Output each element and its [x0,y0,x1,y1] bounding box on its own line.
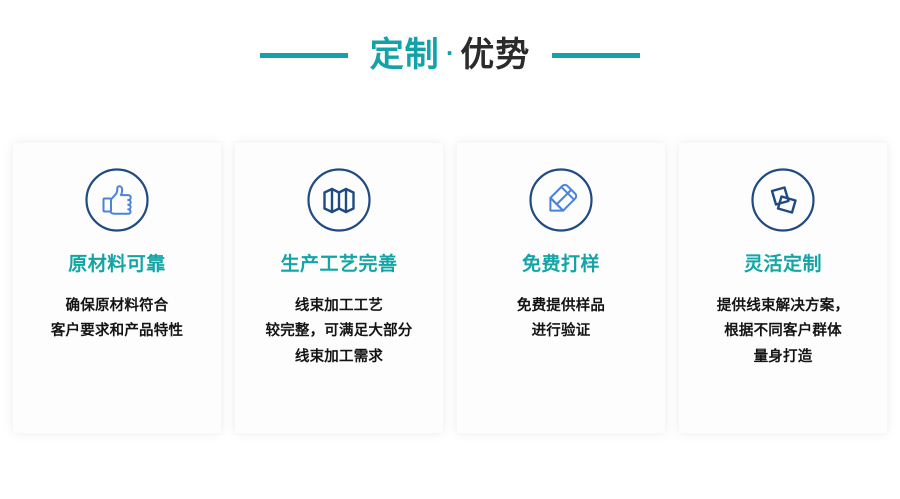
card-description-line: 免费提供样品 [469,294,654,319]
advantage-card-process[interactable]: 生产工艺完善 线束加工工艺 较完整，可满足大部分 线束加工需求 [235,143,443,433]
overlapping-cards-icon [750,167,816,233]
pencil-icon [528,167,594,233]
card-description-line: 确保原材料符合 [25,294,210,319]
card-description-line: 客户要求和产品特性 [25,319,210,344]
advantage-card-free-sample[interactable]: 免费打样 免费提供样品 进行验证 [457,143,665,433]
advantage-card-flexible-custom[interactable]: 灵活定制 提供线束解决方案， 根据不同客户群体 量身打造 [679,143,887,433]
card-description: 提供线束解决方案， 根据不同客户群体 量身打造 [691,294,876,370]
page-title-dark: 优势 [460,38,530,72]
card-description: 确保原材料符合 客户要求和产品特性 [25,294,210,345]
card-title: 免费打样 [522,255,600,274]
left-rule [260,53,348,58]
card-description: 免费提供样品 进行验证 [469,294,654,345]
right-rule [552,53,640,58]
card-description: 线束加工工艺 较完整，可满足大部分 线束加工需求 [247,294,432,370]
advantage-card-material[interactable]: 原材料可靠 确保原材料符合 客户要求和产品特性 [13,143,221,433]
card-description-line: 较完整，可满足大部分 [247,319,432,344]
card-description-line: 线束加工需求 [247,345,432,370]
card-description-line: 进行验证 [469,319,654,344]
thumbs-up-icon [84,167,150,233]
card-description-line: 量身打造 [691,345,876,370]
card-title: 灵活定制 [744,255,822,274]
page-title: 定制 · 优势 [370,38,531,72]
folded-map-icon [306,167,372,233]
card-description-line: 根据不同客户群体 [691,319,876,344]
page-title-separator: · [446,43,455,63]
advantage-card-list: 原材料可靠 确保原材料符合 客户要求和产品特性 生产工艺完善 [13,143,887,433]
card-description-line: 线束加工工艺 [247,294,432,319]
card-title: 生产工艺完善 [280,255,397,274]
section-header: 定制 · 优势 [0,26,900,84]
card-description-line: 提供线束解决方案， [691,294,876,319]
customization-advantages-section: 定制 · 优势 原材料可靠 [0,0,900,499]
card-title: 原材料可靠 [68,255,166,274]
page-title-teal: 定制 [370,38,440,72]
